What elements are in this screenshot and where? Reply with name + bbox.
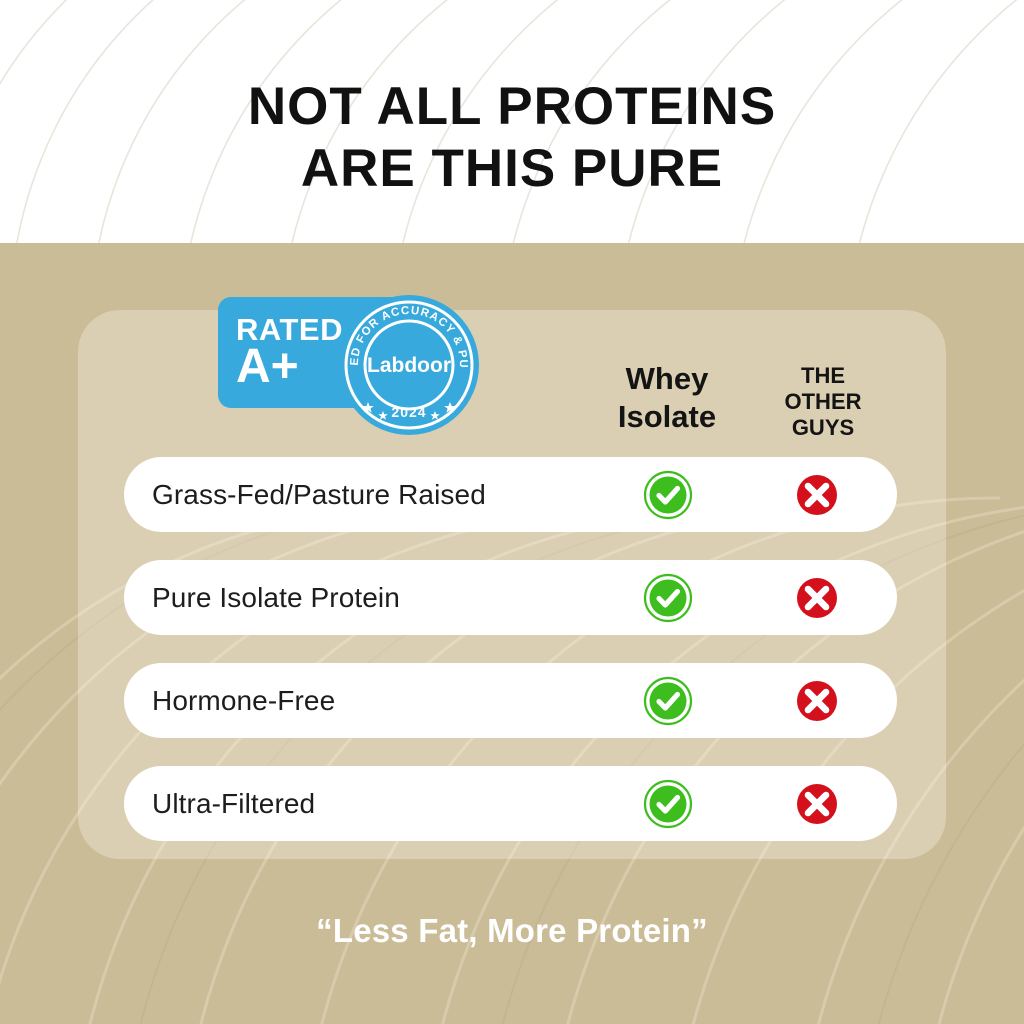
seal-brand-text: Labdoor (367, 354, 451, 377)
table-row: Grass-Fed/Pasture Raised (124, 457, 897, 532)
row-label: Ultra-Filtered (152, 766, 315, 841)
labdoor-seal-icon: TESTED FOR ACCURACY & PURITY Labdoor 202… (338, 294, 480, 436)
check-icon (643, 779, 693, 829)
labdoor-badge: RATED A+ TESTED FOR ACCURACY & PURITY La… (218, 294, 480, 412)
column-header-competitor-line-1: THE (758, 363, 888, 389)
check-icon (643, 573, 693, 623)
column-header-product-line-1: Whey (583, 360, 751, 398)
row-label: Pure Isolate Protein (152, 560, 400, 635)
check-icon (643, 470, 693, 520)
column-header-competitor-line-2: OTHER (758, 389, 888, 415)
headline-line-2: ARE THIS PURE (0, 138, 1024, 200)
column-header-competitor: THE OTHER GUYS (758, 363, 888, 441)
row-label: Hormone-Free (152, 663, 335, 738)
infographic-canvas: NOT ALL PROTEINS ARE THIS PURE RATED A+ … (0, 0, 1024, 1024)
column-header-product: Whey Isolate (583, 360, 751, 436)
column-header-competitor-line-3: GUYS (758, 415, 888, 441)
cross-icon (792, 676, 842, 726)
cross-icon (792, 573, 842, 623)
cross-icon (792, 779, 842, 829)
page-title: NOT ALL PROTEINS ARE THIS PURE (0, 76, 1024, 200)
seal-year-text: 2024 (391, 404, 426, 420)
table-row: Hormone-Free (124, 663, 897, 738)
check-icon (643, 676, 693, 726)
row-label: Grass-Fed/Pasture Raised (152, 457, 486, 532)
table-row: Pure Isolate Protein (124, 560, 897, 635)
column-header-product-line-2: Isolate (583, 398, 751, 436)
tagline: “Less Fat, More Protein” (0, 912, 1024, 950)
headline-line-1: NOT ALL PROTEINS (248, 77, 776, 136)
table-row: Ultra-Filtered (124, 766, 897, 841)
cross-icon (792, 470, 842, 520)
